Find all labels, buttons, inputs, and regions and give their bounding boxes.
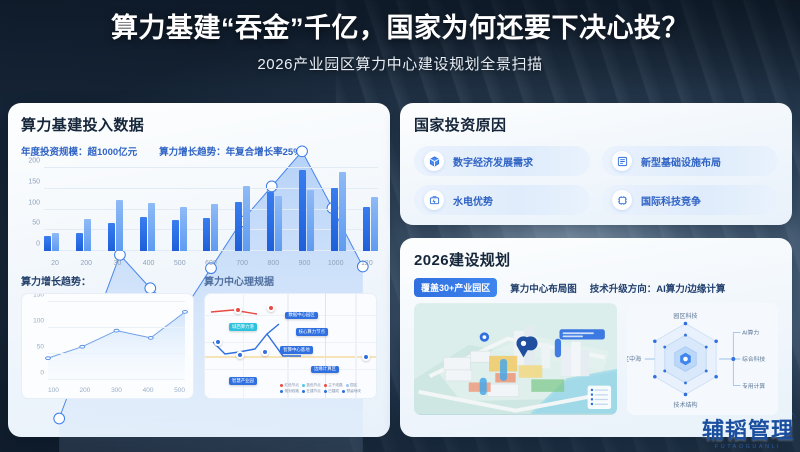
reason-pill-grid: 数字经济发展需求 新型基础设施布局 [414,146,778,215]
bar[interactable] [108,223,115,251]
map-chip[interactable]: 数据中心园区 [285,312,317,320]
legend-label: 主干线路 [328,383,342,388]
map-chip[interactable]: 核心算力节点 [296,328,328,336]
map-pin-icon [480,332,489,341]
bar[interactable] [172,220,179,251]
y-axis-tick: 100 [16,199,40,206]
bar-chart-x-axis: 20200304005006007008009001000120 [44,260,378,267]
y-axis-tick: 0 [16,241,40,248]
map-legend: 红色节点蓝色节点主干线路园区规划线路在建节点已建成预留地块 [280,383,372,394]
legend-label: 红色节点 [285,383,299,388]
map-legend-item: 预留地块 [342,389,361,394]
bar[interactable] [180,207,187,251]
bar[interactable] [275,196,282,251]
investment-reason-card: 国家投资原因 数字经济发展需求 [400,103,792,225]
line-chart: 050100150 100200300400500 [21,293,194,399]
bar-group[interactable] [44,168,59,251]
legend-swatch [342,390,345,393]
y-axis-tick: 200 [16,158,40,165]
map-legend-item: 红色节点 [280,383,299,388]
x-axis-tick: 30 [106,260,128,267]
watermark-pinyin: FUTAOGUANLI [702,444,794,450]
radar-callout-2: 专用计算 [743,382,766,390]
reason-item-digital-economy[interactable]: 数字经济发展需求 [414,146,590,176]
legend-swatch [324,390,327,393]
bar[interactable] [307,190,314,251]
plan-card-title: 2026建设规划 [414,249,778,270]
radar-svg: AI算力 综合科技 专用计算 园区科技 技术结构 园区中海 [627,303,778,415]
map-chip[interactable]: 边缘计算区 [311,366,339,374]
plan-card-inner: 2026建设规划 覆盖30+产业园区 算力中心布局图 技术升级方向：AI算力/边… [400,238,792,297]
y-axis-tick: 150 [16,178,40,185]
legend-swatch [346,384,349,387]
radar-callout-1: 综合科技 [743,355,766,363]
reason-item-label: 水电优势 [453,193,493,208]
datacenter-map[interactable]: 数据中心园区 核心算力节点 智算中心基地 边缘计算区 智慧产业园 城西算力港 红… [204,293,377,399]
radar-label-left: 园区中海 [627,355,641,363]
construction-plan-card: 2026建设规划 覆盖30+产业园区 算力中心布局图 技术升级方向：AI算力/边… [400,238,792,437]
y-axis-tick: 0 [24,370,44,377]
map-chip[interactable]: 城西算力港 [229,323,257,331]
bar[interactable] [331,188,338,251]
page-title: 算力基建“吞金”千亿，国家为何还要下决心投？ [0,14,800,44]
legend-swatch [324,384,327,387]
map-chip[interactable]: 智算中心基地 [280,346,312,354]
legend-label: 蓝色节点 [306,383,320,388]
bar[interactable] [44,236,51,251]
slide-header: 算力基建“吞金”千亿，国家为何还要下决心投？ 2026产业园区算力中心建设规划全… [0,14,800,74]
reason-card-inner: 国家投资原因 数字经济发展需求 [400,103,792,215]
map-legend-item: 规划线路 [280,389,299,394]
bar[interactable] [148,203,155,251]
watermark: 辅韬管理 FUTAOGUANLI [702,420,794,450]
radar-label-top: 园区科技 [674,312,698,320]
x-axis-tick: 700 [231,260,253,267]
legend-label: 在建节点 [306,389,320,394]
investment-data-card: 算力基建投入数据 年度投资规模：超1000亿元 算力增长趋势：年复合增长率25%… [8,103,390,437]
bar-group[interactable] [140,168,155,251]
bar-chart: 050100150200 202003040050060070080090010… [14,164,384,269]
map-marker[interactable] [236,351,244,359]
x-axis-tick: 800 [262,260,284,267]
radar-label-bottom: 技术结构 [674,401,698,409]
line-chart-x-axis: 100200300400500 [48,387,185,394]
city-svg [414,303,617,415]
bar[interactable] [339,172,346,251]
metric-annual-investment: 年度投资规模：超1000亿元 [21,144,137,158]
bar[interactable] [371,197,378,251]
bar-group[interactable] [299,168,314,251]
bar[interactable] [363,207,370,251]
legend-swatch [280,390,283,393]
bar[interactable] [52,233,59,251]
grid-line [48,379,185,380]
legend-label: 规划线路 [285,389,299,394]
grid-line [48,301,185,302]
map-surface[interactable]: 数据中心园区 核心算力节点 智算中心基地 边缘计算区 智慧产业园 城西算力港 红… [205,294,376,398]
map-legend-item: 园区 [346,383,358,388]
plan-card-subline: 覆盖30+产业园区 算力中心布局图 技术升级方向：AI算力/边缘计算 [414,278,778,297]
battery-icon [424,190,444,210]
left-card-title: 算力基建投入数据 [21,114,377,135]
chip-icon [612,190,632,210]
x-axis-tick: 200 [75,260,97,267]
map-marker[interactable] [267,304,275,312]
map-chip[interactable]: 智慧产业园 [229,377,257,385]
bar-group[interactable] [203,168,218,251]
y-axis-tick: 50 [16,220,40,227]
slide-canvas: 算力基建“吞金”千亿，国家为何还要下决心投？ 2026产业园区算力中心建设规划全… [0,0,800,452]
reason-item-label: 数字经济发展需求 [453,154,533,169]
bar[interactable] [116,200,123,251]
legend-label: 预留地块 [347,389,361,394]
technology-radar-diagram[interactable]: AI算力 综合科技 专用计算 园区科技 技术结构 园区中海 [627,303,778,415]
x-axis-tick: 500 [169,260,191,267]
y-axis-tick: 150 [24,293,44,299]
layout-label: 算力中心布局图 [510,281,577,295]
coverage-badge: 覆盖30+产业园区 [414,278,497,297]
x-axis-tick: 100 [48,387,59,394]
x-axis-tick: 400 [143,387,154,394]
map-legend-item: 已建成 [324,389,339,394]
reason-item-label: 国际科技竞争 [641,193,701,208]
radar-callout-0: AI算力 [743,329,760,337]
bar-group[interactable] [267,168,282,251]
bar[interactable] [267,192,274,251]
x-axis-tick: 300 [111,387,122,394]
page-subtitle: 2026产业园区算力中心建设规划全景扫描 [0,53,800,74]
grid-line [48,353,185,354]
reason-item-label: 新型基础设施布局 [641,154,721,169]
bar[interactable] [235,202,242,251]
bar-group[interactable] [235,168,250,251]
reason-item-global-competition[interactable]: 国际科技竞争 [602,185,778,215]
left-card-header: 算力基建投入数据 年度投资规模：超1000亿元 算力增长趋势：年复合增长率25% [8,103,390,158]
bar[interactable] [140,217,147,251]
plan-card-body: AI算力 综合科技 专用计算 园区科技 技术结构 园区中海 [400,297,792,415]
bar[interactable] [299,170,306,251]
y-axis-tick: 100 [24,318,44,325]
left-card-metrics: 年度投资规模：超1000亿元 算力增长趋势：年复合增长率25% [21,144,377,158]
map-legend-item: 蓝色节点 [302,383,321,388]
legend-swatch [302,384,305,387]
bar[interactable] [84,219,91,251]
x-axis-tick: 400 [138,260,160,267]
reason-item-new-infrastructure[interactable]: 新型基础设施布局 [602,146,778,176]
metric-growth-trend: 算力增长趋势：年复合增长率25% [159,144,302,158]
legend-label: 已建成 [328,389,339,394]
legend-swatch [280,384,283,387]
x-axis-tick: 20 [44,260,66,267]
x-axis-tick: 900 [294,260,316,267]
map-marker[interactable] [214,338,222,346]
watermark-name: 辅韬管理 [702,420,794,442]
bar[interactable] [243,186,250,251]
grid-line [48,327,185,328]
bar-chart-plot: 050100150200 [44,168,378,251]
reason-card-title: 国家投资原因 [414,114,778,135]
line-chart-svg [48,302,185,380]
bar-group[interactable] [363,168,378,251]
bar-group[interactable] [76,168,91,251]
bar-group[interactable] [331,168,346,251]
legend-swatch [302,390,305,393]
x-axis-tick: 1000 [325,260,347,267]
line-chart-plot: 050100150 [48,302,185,380]
cube-icon [424,151,444,171]
legend-label: 园区 [350,383,357,388]
bar-group[interactable] [172,168,187,251]
bar[interactable] [203,218,210,251]
bar[interactable] [211,204,218,251]
upgrade-label: 技术升级方向：AI算力/边缘计算 [590,281,726,295]
map-legend-item: 在建节点 [302,389,321,394]
bar[interactable] [76,233,83,251]
bar-group[interactable] [108,168,123,251]
city-isometric-illustration[interactable] [414,303,617,415]
bar-groups [44,168,378,251]
reason-item-hydropower[interactable]: 水电优势 [414,185,590,215]
y-axis-tick: 50 [24,344,44,351]
server-icon [612,151,632,171]
x-axis-tick: 200 [80,387,91,394]
x-axis-tick: 120 [356,260,378,267]
map-legend-item: 主干线路 [324,383,343,388]
x-axis-tick: 600 [200,260,222,267]
x-axis-tick: 500 [174,387,185,394]
